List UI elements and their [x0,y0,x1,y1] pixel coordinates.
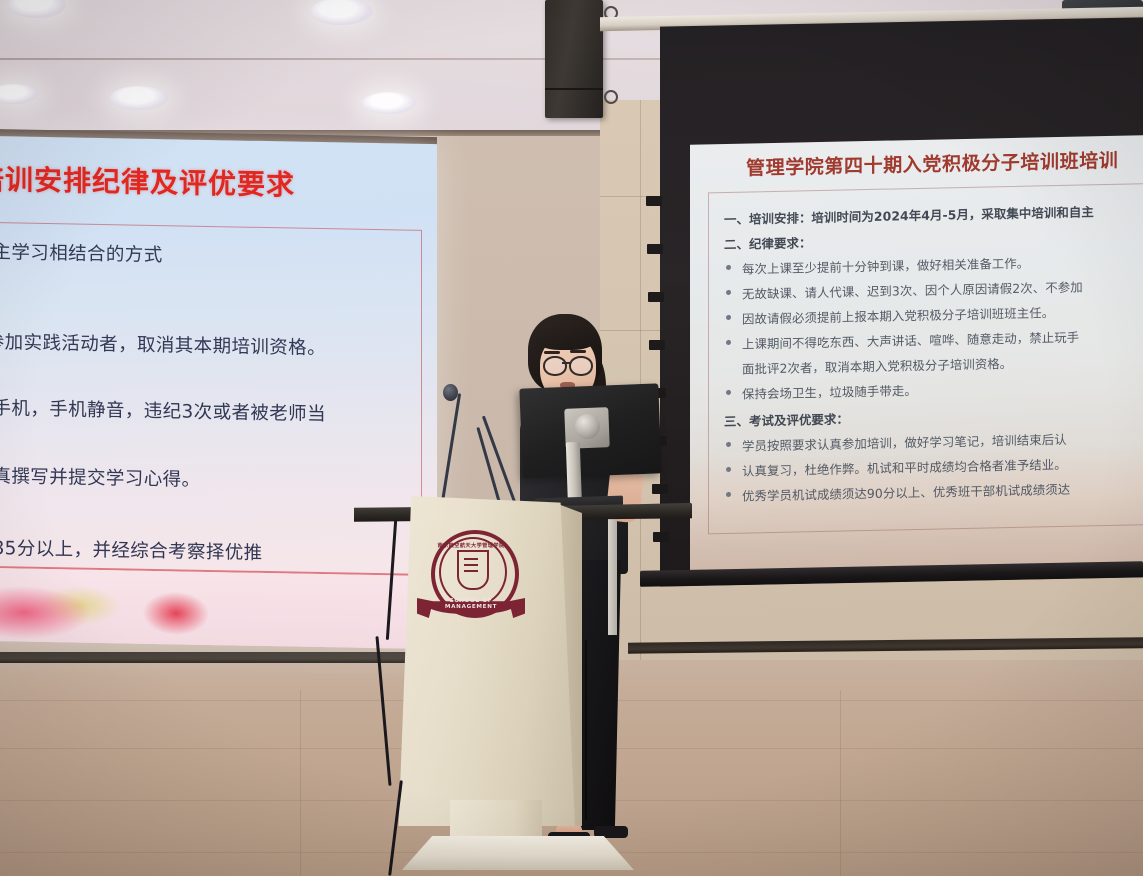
screen-tension-tab [646,196,662,206]
ceiling-light-4 [362,92,416,114]
microphone-head-left [443,384,458,401]
glasses-lens-right [569,356,593,376]
screen-tension-tab [649,340,665,350]
speaker-bracket-bottom [604,90,618,104]
presenter-leg-seam [585,640,587,820]
left-screen-title: 训班培训安排纪律及评优要求 [0,157,437,207]
left-screen-line: 训结束后认真撰写并提交学习心得。 [0,460,200,492]
speaker-seam [545,88,603,90]
presenter-brow-left [544,351,560,354]
slide-heading: 三、考试及评优要求： [724,409,849,430]
ceiling-light-3 [110,86,168,110]
floor-seam [300,690,301,876]
left-screen-line: 中培训和自主学习相结合的方式 [0,236,163,267]
school-emblem: 南京航空航天大学管理学院 SCHOOL OF MANAGEMENT [419,530,523,634]
left-display[interactable]: 训班培训安排纪律及评优要求 中培训和自主学习相结合的方式 作。 假2次、不参加实… [0,134,437,649]
screen-tension-tab [653,532,669,542]
podium-base [402,836,634,870]
photo-scene: 训班培训安排纪律及评优要求 中培训和自主学习相结合的方式 作。 假2次、不参加实… [0,0,1143,876]
right-screen-title: 管理学院第四十期入党积极分子培训班培训 [746,146,1118,181]
wall-speaker [545,0,603,118]
screen-tension-tab [647,244,663,254]
right-projected-slide[interactable]: 管理学院第四十期入党积极分子培训班培训 一、培训安排：培训时间为2024年4月-… [690,135,1143,572]
screen-tension-tab [652,484,668,494]
left-screen-watercolor-graphic [0,566,424,650]
slide-heading: 二、纪律要求： [724,233,811,253]
presenter-brow-right [570,350,586,353]
slide-bullet: 保持会场卫生，垃圾随手带走。 [742,381,917,403]
baseboard-left [0,652,410,663]
emblem-shield-icon [457,550,489,590]
glasses-bridge [562,362,570,364]
presenter-fringe [534,320,598,350]
floor-seam [840,690,841,876]
monitor-ball-joint [575,414,600,439]
shelf-support-leg [608,515,617,635]
screen-tension-tab [648,292,664,302]
emblem-ribbon-text: SCHOOL OF MANAGEMENT [425,598,517,610]
glasses-lens-left [543,356,567,376]
